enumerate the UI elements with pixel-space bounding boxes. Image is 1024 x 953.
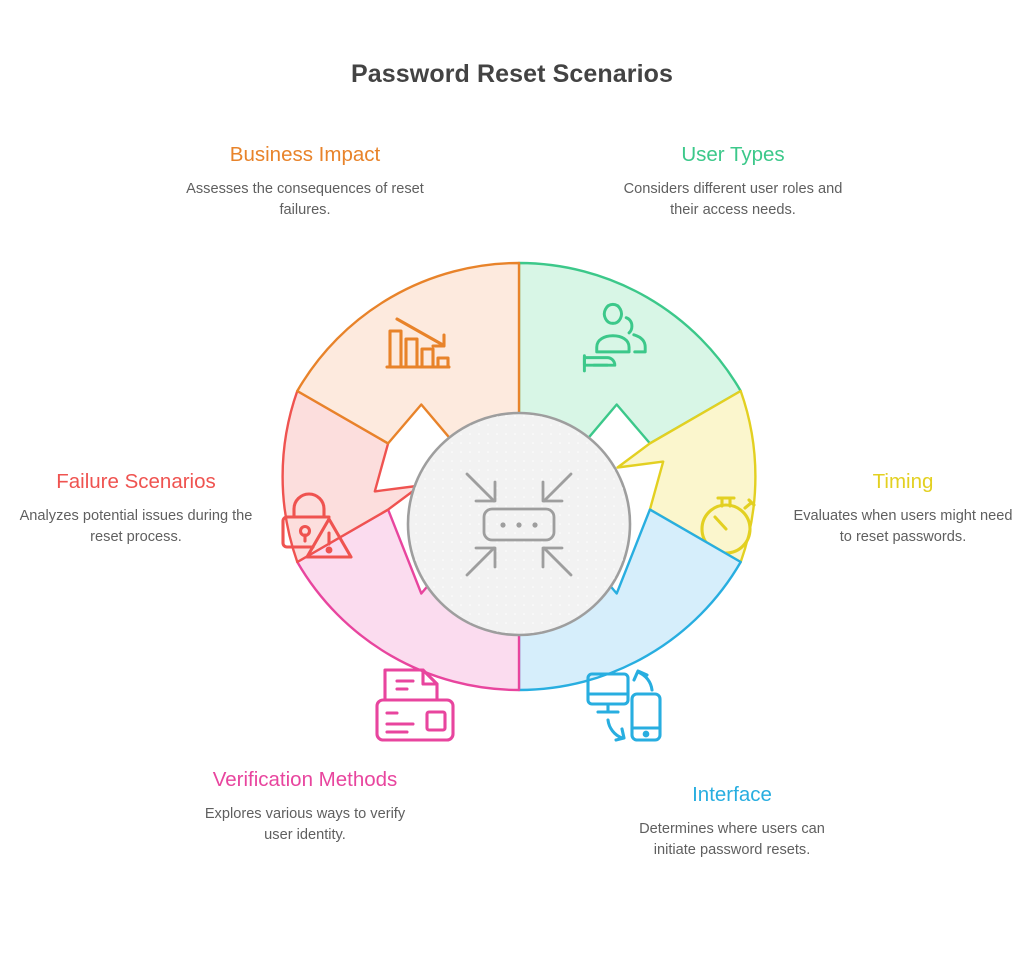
label-interface-title: Interface <box>618 781 846 809</box>
label-interface-desc: Determines where users can initiate pass… <box>618 819 846 861</box>
monitor-phone-sync-icon <box>588 671 660 740</box>
label-verification-methods-title: Verification Methods <box>190 766 420 794</box>
hub[interactable] <box>408 413 630 635</box>
label-business-impact-title: Business Impact <box>182 141 428 169</box>
label-timing[interactable]: Timing Evaluates when users might need t… <box>792 468 1014 548</box>
label-timing-desc: Evaluates when users might need to reset… <box>792 506 1014 548</box>
label-interface[interactable]: Interface Determines where users can ini… <box>618 781 846 861</box>
label-failure-scenarios[interactable]: Failure Scenarios Analyzes potential iss… <box>12 468 260 548</box>
label-failure-scenarios-desc: Analyzes potential issues during the res… <box>12 506 260 548</box>
label-timing-title: Timing <box>792 468 1014 496</box>
label-failure-scenarios-title: Failure Scenarios <box>12 468 260 496</box>
document-id-card-icon <box>377 670 453 740</box>
label-user-types[interactable]: User Types Considers different user role… <box>610 141 856 221</box>
label-business-impact-desc: Assesses the consequences of reset failu… <box>182 179 428 221</box>
label-verification-methods-desc: Explores various ways to verify user ide… <box>190 804 420 846</box>
label-user-types-desc: Considers different user roles and their… <box>610 179 856 221</box>
label-user-types-title: User Types <box>610 141 856 169</box>
label-business-impact[interactable]: Business Impact Assesses the consequence… <box>182 141 428 221</box>
label-verification-methods[interactable]: Verification Methods Explores various wa… <box>190 766 420 846</box>
